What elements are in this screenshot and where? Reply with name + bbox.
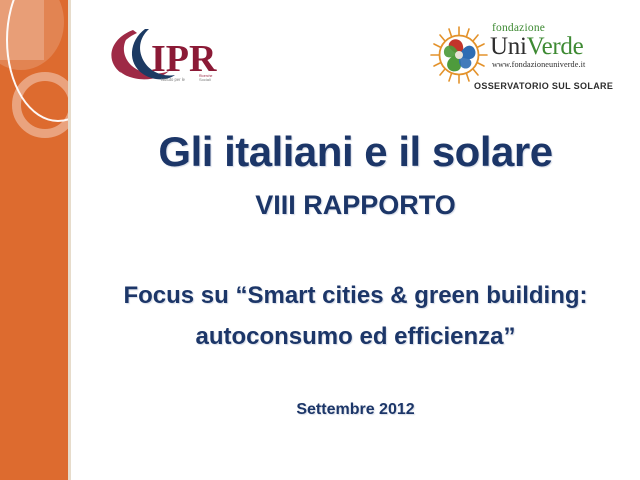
- presentation-slide: IPR Istituto per le Ricerche Sociali: [0, 0, 640, 480]
- slide-date: Settembre 2012: [71, 401, 640, 419]
- page-subtitle: VIII RAPPORTO: [71, 190, 640, 221]
- focus-line-2: autoconsumo ed efficienza”: [71, 323, 640, 351]
- slide-text-area: Gli italiani e il solare VIII RAPPORTO F…: [71, 0, 640, 480]
- focus-line-1: Focus su “Smart cities & green building:: [71, 282, 640, 310]
- left-decorative-band: [0, 0, 68, 480]
- page-title: Gli italiani e il solare: [71, 128, 640, 176]
